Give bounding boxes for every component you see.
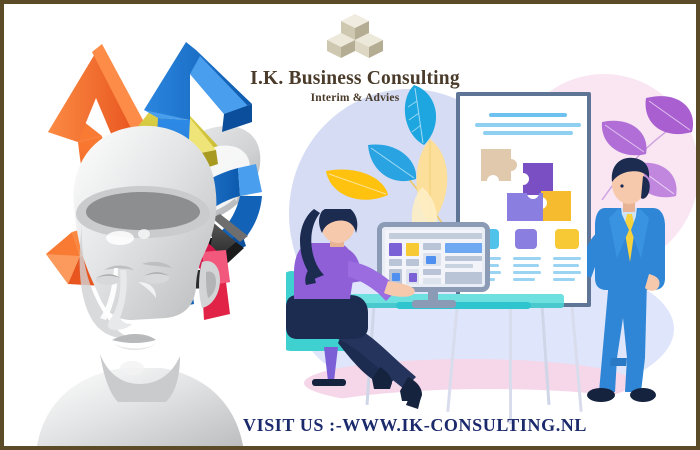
leaf-purple-upper	[646, 96, 694, 134]
isometric-cubes-logo-icon	[327, 10, 383, 62]
visit-us-url[interactable]: VISIT US :-WWW.IK-CONSULTING.NL	[4, 415, 696, 436]
chair-base	[312, 379, 346, 386]
puzzle-group	[479, 145, 579, 223]
mannequin-head	[74, 126, 220, 402]
puzzle-purple	[523, 163, 553, 195]
brand-logo-block: I.K. Business Consulting Interim & Advie…	[237, 8, 473, 106]
man-shoe-left	[587, 388, 615, 402]
poster-canvas: I.K. Business Consulting Interim & Advie…	[0, 0, 700, 450]
company-name: I.K. Business Consulting	[237, 69, 473, 89]
puzzle-beige	[481, 149, 517, 181]
man-presenting	[587, 152, 669, 410]
puzzle-yellow	[541, 191, 571, 221]
puzzle-violet	[507, 193, 543, 221]
woman-pants	[286, 295, 368, 339]
chair-post	[324, 347, 338, 381]
mannequin-shoulders	[36, 368, 244, 450]
easel-leg-center	[509, 304, 512, 424]
man-shoe-right	[630, 388, 656, 402]
swatch-violet	[515, 229, 537, 249]
leaf-yellow-left	[326, 169, 388, 199]
woman-hand	[384, 281, 415, 297]
leaf-blue-lower	[368, 144, 416, 181]
swatch-yellow	[555, 229, 579, 249]
mannequin-head-with-arrows	[16, 24, 271, 450]
company-tagline: Interim & Advies	[237, 92, 473, 104]
leaf-purple-mid	[602, 121, 647, 156]
woman-at-desk	[286, 209, 436, 424]
